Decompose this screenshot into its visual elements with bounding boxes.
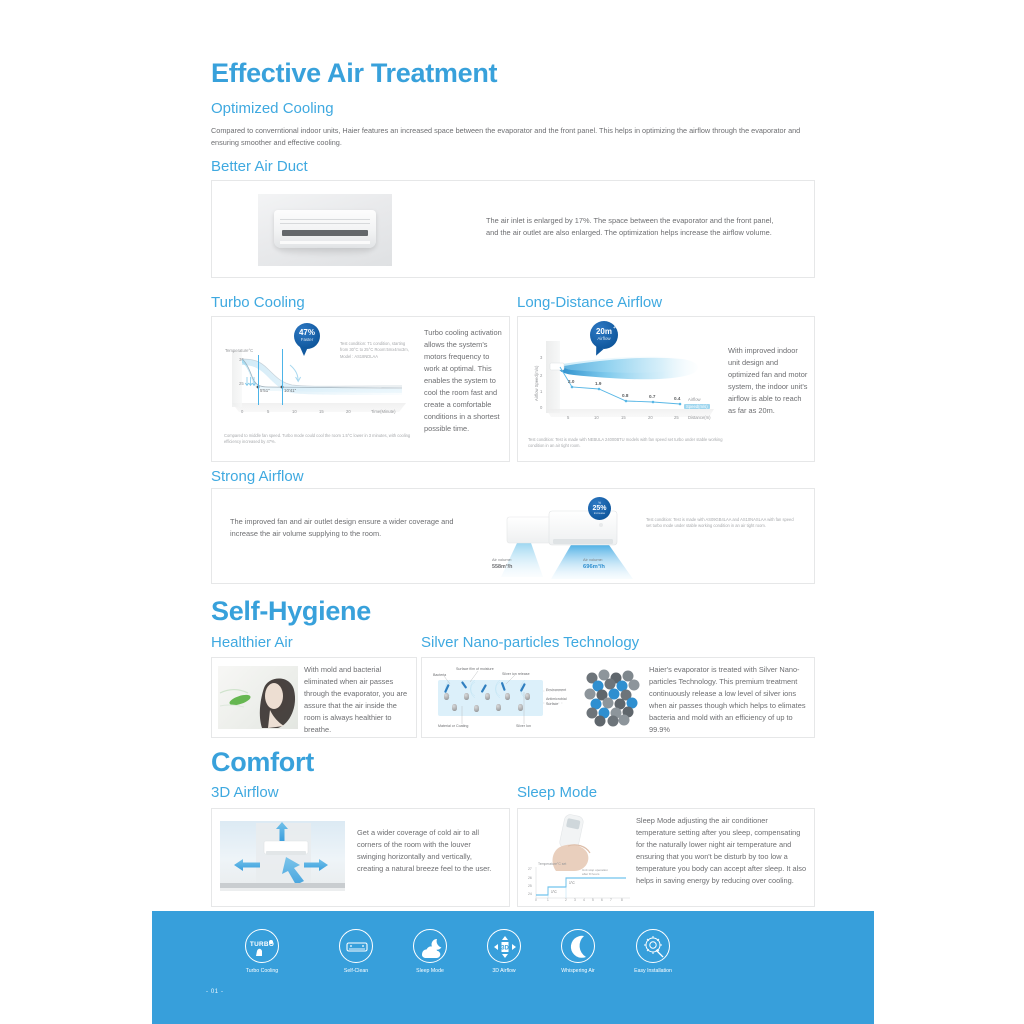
sleep-chart-note: Unit stop operation after 8 hours bbox=[582, 868, 612, 876]
silver-nano-body: Haier's evaporator is treated with Silve… bbox=[649, 664, 809, 736]
better-air-duct-body: The air inlet is enlarged by 17%. The sp… bbox=[486, 215, 786, 239]
long-distance-body: With improved indoor unit design and opt… bbox=[728, 345, 808, 417]
footer-item-whispering-air[interactable]: Whispering Air bbox=[543, 929, 613, 974]
label-material-or-coating: Material or Coating bbox=[438, 724, 468, 728]
airflow-value-1: 2.0 bbox=[568, 379, 574, 384]
subsection-title-better-air-duct: Better Air Duct bbox=[211, 158, 308, 175]
footer-item-3d-airflow[interactable]: 3D 3D Airflow bbox=[469, 929, 539, 974]
turbo-annotation-2: 10'41" bbox=[284, 388, 296, 393]
airflow-legend-1: Airflow bbox=[688, 397, 701, 402]
sleep-xtick-6: 6 bbox=[601, 898, 603, 902]
healthier-air-photo bbox=[218, 666, 298, 729]
subsection-title-3d-airflow: 3D Airflow bbox=[211, 784, 279, 801]
badge-25-percent-increase: % 25% increase bbox=[588, 497, 611, 520]
turbo-test-condition: Test condition: T1 condition, starting f… bbox=[340, 341, 410, 360]
footer-item-self-clean[interactable]: Self-Clean bbox=[321, 929, 391, 974]
silver-nano-diagram: Surface film of moisture Bacteria Silver… bbox=[430, 662, 575, 734]
airflow-value-2: 1.9 bbox=[595, 381, 601, 386]
sleep-mode-chart: Temperature°C set 27 26 25 24 0 1 2 3 4 bbox=[526, 861, 632, 903]
turbo-marker-line-1 bbox=[258, 355, 259, 405]
sleep-xtick-8: 8 bbox=[621, 898, 623, 902]
section-title-self-hygiene: Self-Hygiene bbox=[211, 596, 371, 627]
subsection-title-long-distance-airflow: Long-Distance Airflow bbox=[517, 294, 662, 311]
footer-label-0: Turbo Cooling bbox=[227, 968, 297, 974]
self-clean-icon bbox=[339, 929, 373, 963]
air-duct-photo bbox=[258, 194, 392, 266]
subsection-title-healthier-air: Healthier Air bbox=[211, 634, 293, 651]
3d-airflow-body: Get a wider coverage of cold air to all … bbox=[357, 827, 497, 875]
3d-airflow-icon: 3D bbox=[487, 929, 521, 963]
strong-airflow-figure: % 25% increase Air volume: 558m³/h Air v… bbox=[487, 495, 657, 579]
turbo-annotation-1: 5'51" bbox=[260, 388, 270, 393]
label-silver-ion: Silver Ion bbox=[516, 724, 531, 728]
footer-label-4: Whispering Air bbox=[543, 968, 613, 974]
sleep-xtick-1: 1 bbox=[547, 898, 549, 902]
badge-47-percent-faster: 47% Faster bbox=[294, 323, 320, 349]
section-title-effective-air-treatment: Effective Air Treatment bbox=[211, 58, 497, 89]
panel-long-distance-airflow: Airflow Speed(m/s) 3 2 1 0 5 10 15 20 25… bbox=[517, 316, 815, 462]
badge-tail-turbo bbox=[300, 347, 308, 356]
sleep-xtick-3: 3 bbox=[574, 898, 576, 902]
section-title-comfort: Comfort bbox=[211, 747, 314, 778]
footer-label-5: Easy Installation bbox=[618, 968, 688, 974]
badge-superscript: + bbox=[613, 325, 616, 331]
footer-item-easy-installation[interactable]: Easy Installation bbox=[618, 929, 688, 974]
sleep-xtick-7: 7 bbox=[610, 898, 612, 902]
subsection-title-sleep-mode: Sleep Mode bbox=[517, 784, 597, 801]
strong-airflow-test-condition: Test condition: Test is made with AS09GB… bbox=[646, 517, 796, 530]
footer-item-sleep-mode[interactable]: Sleep Mode bbox=[395, 929, 465, 974]
sleep-mode-body: Sleep Mode adjusting the air conditioner… bbox=[636, 815, 808, 887]
label-antimicrobial-surface: Antimicrobial Surface bbox=[546, 697, 570, 706]
silver-crystal-lattice bbox=[580, 666, 642, 728]
healthier-air-body: With mold and bacterial eliminated when … bbox=[304, 664, 412, 736]
footer-label-2: Sleep Mode bbox=[395, 968, 465, 974]
strong-airflow-body: The improved fan and air outlet design e… bbox=[230, 516, 460, 540]
panel-silver-nano: Surface film of moisture Bacteria Silver… bbox=[421, 657, 815, 738]
panel-turbo-cooling: Temperature°C 30 25 0 5 10 15 20 Time(Mi… bbox=[211, 316, 510, 462]
airflow-legend-2: Speed(m/s) bbox=[684, 404, 710, 409]
label-surface-film-of-moisture: Surface film of moisture bbox=[456, 667, 494, 671]
subsection-title-optimized-cooling: Optimized Cooling bbox=[211, 100, 334, 117]
turbo-footnote: Compared to middle fan speed. Turbo mode… bbox=[224, 433, 414, 446]
subsection-title-silver-nano: Silver Nano-particles Technology bbox=[421, 634, 639, 651]
subsection-title-strong-airflow: Strong Airflow bbox=[211, 468, 304, 485]
air-volume-right-value: 696m³/h bbox=[583, 564, 605, 570]
long-distance-airflow-chart: Airflow Speed(m/s) 3 2 1 0 5 10 15 20 25… bbox=[522, 325, 718, 429]
label-bacteria: Bacteria bbox=[433, 673, 446, 677]
optimized-cooling-body: Compared to converntional indoor units, … bbox=[211, 125, 801, 149]
page-number: - 01 - bbox=[206, 989, 224, 995]
footer-label-3: 3D Airflow bbox=[469, 968, 539, 974]
panel-healthier-air: With mold and bacterial eliminated when … bbox=[211, 657, 417, 738]
moon-icon bbox=[561, 929, 595, 963]
turbo-cooling-body: Turbo cooling activation allows the syst… bbox=[424, 327, 502, 435]
sleep-step-2: 1°C bbox=[569, 881, 575, 885]
gear-wrench-icon bbox=[636, 929, 670, 963]
sleep-mode-figure: Temperature°C set 27 26 25 24 0 1 2 3 4 bbox=[524, 813, 634, 905]
panel-3d-airflow: Get a wider coverage of cold air to all … bbox=[211, 808, 510, 907]
3d-airflow-figure bbox=[220, 821, 345, 891]
sleep-xtick-4: 4 bbox=[583, 898, 585, 902]
airflow-value-5: 0.4 bbox=[674, 396, 680, 401]
sleep-moon-cloud-icon bbox=[413, 929, 447, 963]
panel-sleep-mode: Temperature°C set 27 26 25 24 0 1 2 3 4 bbox=[517, 808, 815, 907]
air-volume-left-value: 558m³/h bbox=[492, 564, 512, 570]
long-distance-footnote: Test condition: Test is made with NEBULA… bbox=[528, 437, 728, 450]
subsection-title-turbo-cooling: Turbo Cooling bbox=[211, 294, 305, 311]
air-volume-right-title: Air volume: bbox=[583, 557, 603, 563]
footer-item-turbo-cooling[interactable]: TURBO Turbo Cooling bbox=[227, 929, 297, 974]
svg-text:3D: 3D bbox=[501, 946, 509, 952]
turbo-icon: TURBO bbox=[245, 929, 279, 963]
airflow-value-4: 0.7 bbox=[649, 394, 655, 399]
airflow-value-3: 0.8 bbox=[622, 393, 628, 398]
panel-better-air-duct: The air inlet is enlarged by 17%. The sp… bbox=[211, 180, 815, 278]
footer-label-1: Self-Clean bbox=[321, 968, 391, 974]
airflow-plume-and-line bbox=[522, 325, 718, 429]
air-volume-left-title: Air volume: bbox=[492, 557, 512, 563]
label-silver-ion-release: Silver ion release bbox=[502, 672, 530, 676]
sleep-xtick-2: 2 bbox=[565, 898, 567, 902]
brochure-page: Effective Air Treatment Optimized Coolin… bbox=[0, 0, 1024, 1024]
panel-strong-airflow: The improved fan and air outlet design e… bbox=[211, 488, 815, 584]
sleep-xtick-5: 5 bbox=[592, 898, 594, 902]
turbo-marker-line-2 bbox=[282, 349, 283, 405]
sleep-xtick-0: 0 bbox=[535, 898, 537, 902]
sleep-step-1: 1°C bbox=[551, 890, 557, 894]
footer-band: TURBO Turbo Cooling Self-Clean bbox=[152, 911, 874, 1024]
label-environment: Environment bbox=[546, 688, 566, 692]
